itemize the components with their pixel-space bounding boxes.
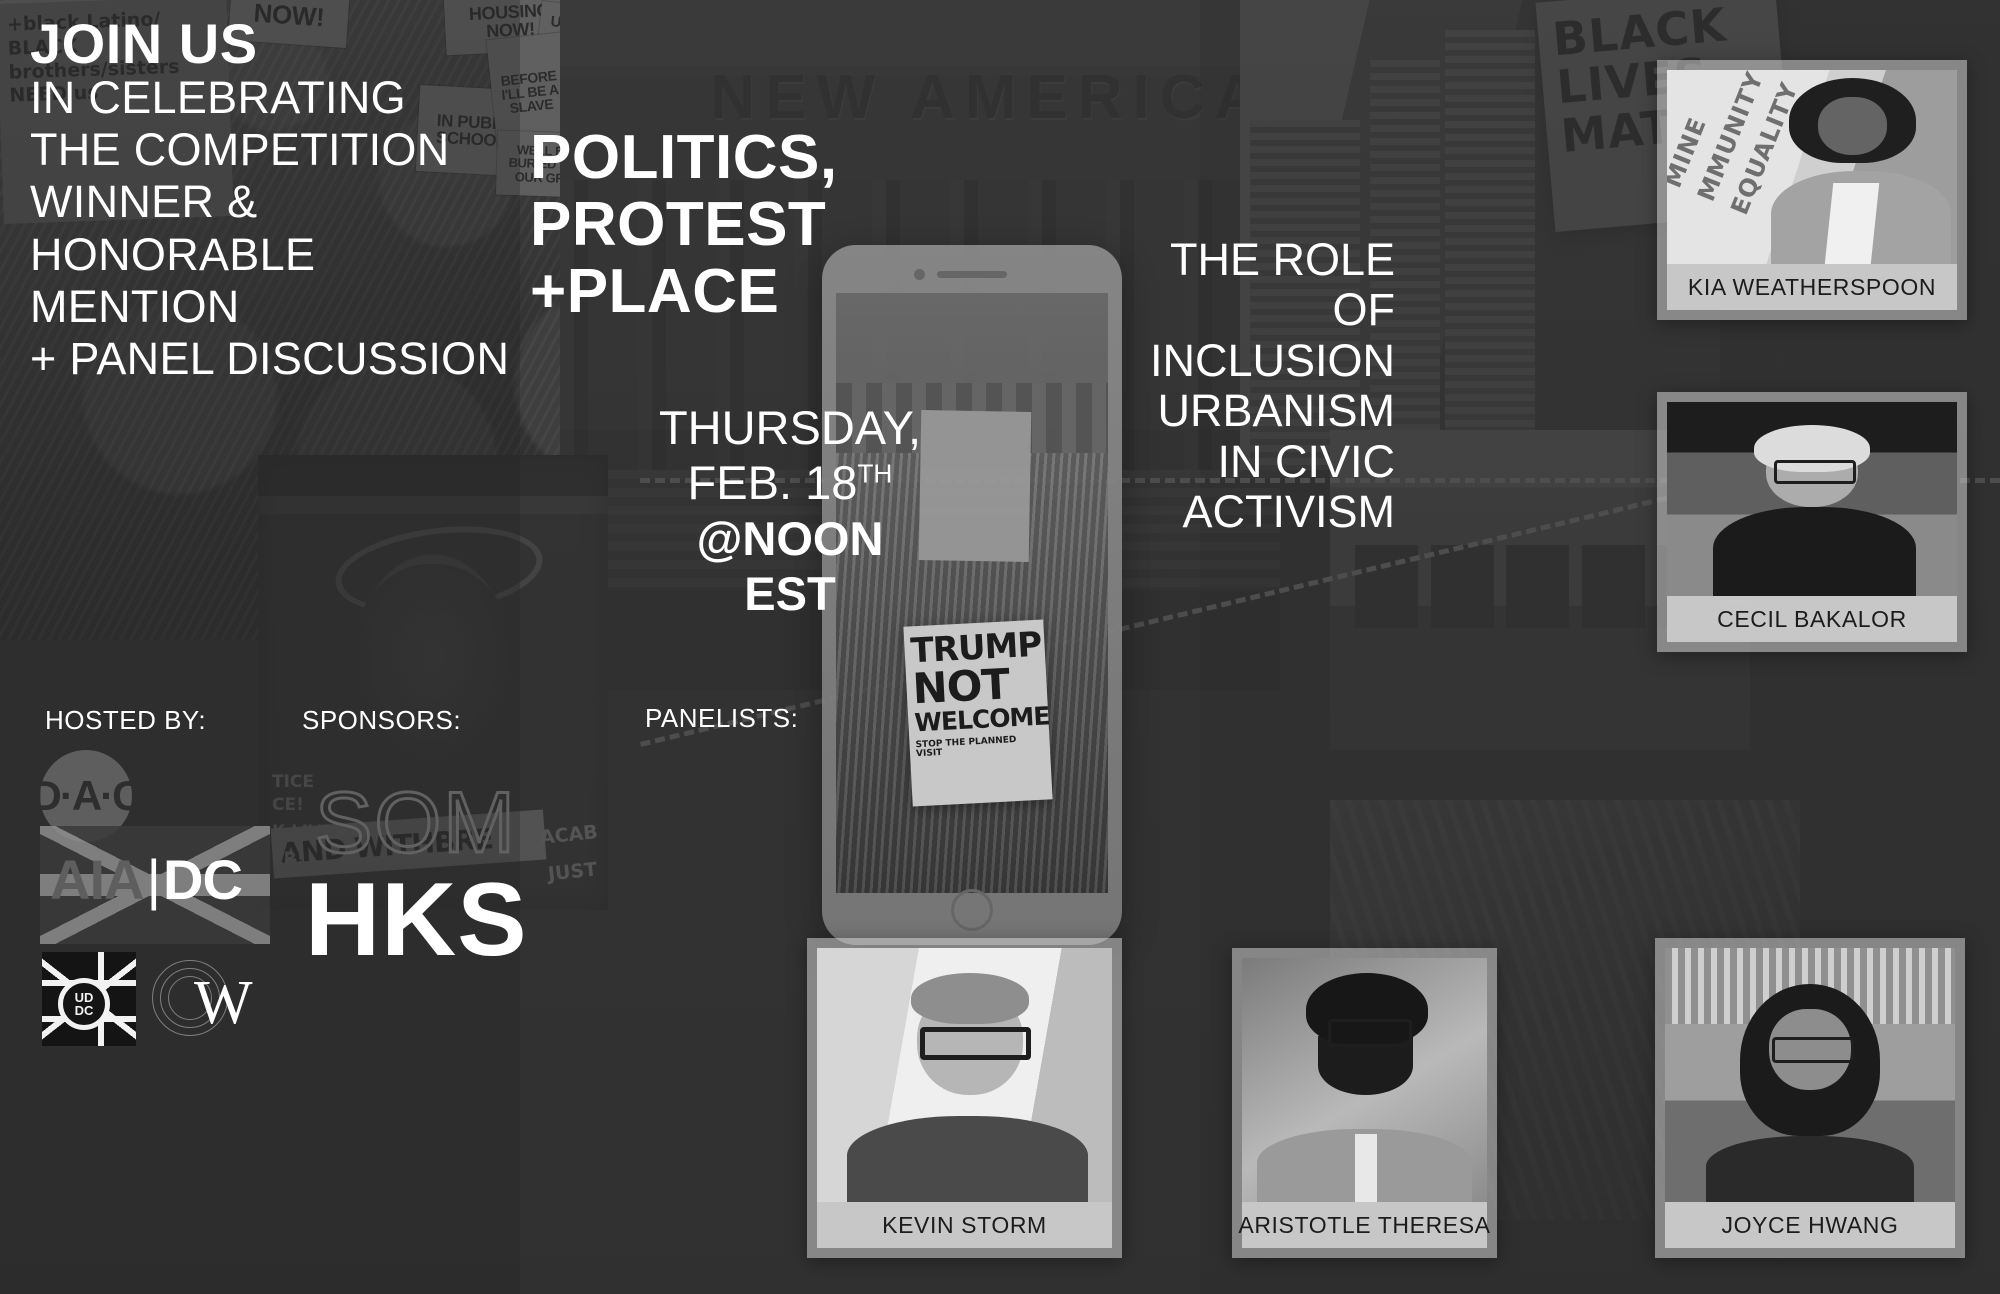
speaker-shirt bbox=[1355, 1134, 1377, 1202]
event-day: THURSDAY, bbox=[650, 400, 930, 455]
panelists-label: PANELISTS: bbox=[645, 703, 798, 734]
speaker-namebar: KEVIN STORM bbox=[817, 1202, 1112, 1248]
speaker-card-aristotle-theresa[interactable]: ARISTOTLE THERESA bbox=[1232, 948, 1497, 1258]
speaker-card-kia-weatherspoon[interactable]: MINEMMUNITYEQUALITY KIA WEATHERSPOON bbox=[1657, 60, 1967, 320]
speaker-glasses-icon bbox=[1328, 1019, 1412, 1047]
topic-line: OF INCLUSION bbox=[1085, 285, 1395, 386]
invite-line: THE COMPETITION bbox=[30, 124, 550, 176]
speaker-glasses-icon bbox=[1772, 1037, 1853, 1063]
speaker-torso bbox=[847, 1116, 1089, 1202]
speaker-namebar: JOYCE HWANG bbox=[1665, 1202, 1955, 1248]
event-time: @NOON EST bbox=[650, 511, 930, 622]
speaker-glasses-icon bbox=[920, 1027, 1030, 1060]
speaker-photo bbox=[1665, 948, 1955, 1202]
sign-line-4: STOP THE PLANNED VISIT bbox=[915, 735, 1046, 760]
hks-logo[interactable]: HKS bbox=[305, 868, 528, 972]
invite-line: IN CELEBRATING bbox=[30, 72, 550, 124]
speaker-namebar: KIA WEATHERSPOON bbox=[1667, 264, 1957, 310]
topic-line: THE ROLE bbox=[1085, 235, 1395, 285]
speaker-torso bbox=[1706, 1136, 1915, 1202]
speaker-name: CECIL BAKALOR bbox=[1717, 606, 1907, 633]
title-line-2: +PLACE bbox=[530, 259, 1090, 326]
speaker-shirt bbox=[1825, 183, 1880, 264]
topic-line: IN CIVIC bbox=[1085, 437, 1395, 487]
invite-line: MENTION bbox=[30, 281, 550, 333]
speaker-hair bbox=[911, 973, 1029, 1024]
speaker-namebar: ARISTOTLE THERESA bbox=[1242, 1202, 1487, 1248]
aia-dc-logo-text: AIA|DC bbox=[50, 852, 242, 908]
uddc-roundabout-icon: UD DC bbox=[58, 978, 110, 1030]
event-date-ordinal: TH bbox=[857, 459, 892, 489]
speaker-name: JOYCE HWANG bbox=[1722, 1212, 1899, 1239]
sponsors-label: SPONSORS: bbox=[302, 705, 461, 736]
speaker-name: ARISTOTLE THERESA bbox=[1238, 1212, 1490, 1239]
aia-dc-logo[interactable]: AIA|DC bbox=[40, 826, 270, 944]
uddc-logo[interactable]: UD DC bbox=[42, 952, 136, 1046]
speaker-photo bbox=[1667, 402, 1957, 596]
invite-headline: JOIN US bbox=[30, 16, 550, 72]
event-poster: SCHOOLS NOW! NOW! HOUSING NOW! UAW SAYS … bbox=[0, 0, 2000, 1294]
trump-not-welcome-sign: TRUMP NOT WELCOME STOP THE PLANNED VISIT bbox=[903, 619, 1052, 806]
uddc-logo-text: UD DC bbox=[75, 991, 94, 1017]
speaker-card-joyce-hwang[interactable]: JOYCE HWANG bbox=[1655, 938, 1965, 1258]
poster-title: POLITICS, PROTEST +PLACE bbox=[530, 125, 1090, 326]
speaker-photo: MINEMMUNITYEQUALITY bbox=[1667, 70, 1957, 264]
hosted-by-label: HOSTED BY: bbox=[45, 705, 206, 736]
speaker-name: KEVIN STORM bbox=[882, 1212, 1047, 1239]
topic-line: ACTIVISM bbox=[1085, 487, 1395, 537]
aia-text: AIA bbox=[50, 848, 143, 911]
sign-line-3: WELCOME bbox=[914, 704, 1045, 736]
title-line-1: POLITICS, PROTEST bbox=[530, 125, 1090, 259]
dac-logo-text: D·A·C bbox=[32, 772, 141, 820]
speaker-photo bbox=[1242, 958, 1487, 1202]
invite-line: + PANEL DISCUSSION bbox=[30, 333, 550, 385]
event-datetime: THURSDAY, FEB. 18TH @NOON EST bbox=[650, 400, 930, 622]
speaker-photo bbox=[817, 948, 1112, 1202]
dc-text: DC bbox=[163, 848, 242, 911]
w-compass-logo[interactable]: W bbox=[158, 954, 250, 1046]
speaker-glasses-icon bbox=[1774, 460, 1855, 483]
event-date-number: FEB. 18 bbox=[688, 456, 858, 509]
speaker-torso bbox=[1713, 507, 1916, 596]
topic-block: THE ROLE OF INCLUSION URBANISM IN CIVIC … bbox=[1085, 235, 1395, 537]
som-logo[interactable]: SOM bbox=[315, 780, 517, 866]
speaker-namebar: CECIL BAKALOR bbox=[1667, 596, 1957, 642]
invite-line: WINNER & bbox=[30, 176, 550, 228]
invite-block: JOIN US IN CELEBRATING THE COMPETITION W… bbox=[30, 16, 550, 385]
speaker-card-kevin-storm[interactable]: KEVIN STORM bbox=[807, 938, 1122, 1258]
phone-home-button bbox=[951, 889, 993, 931]
speaker-face bbox=[1818, 97, 1888, 155]
topic-line: URBANISM bbox=[1085, 386, 1395, 436]
logo-area: D·A·C AIA|DC UD DC W SOM HKS bbox=[40, 740, 560, 1040]
divider-bar: | bbox=[146, 848, 160, 911]
blank-protest-sign bbox=[919, 410, 1032, 562]
speaker-card-cecil-bakalor[interactable]: CECIL BAKALOR bbox=[1657, 392, 1967, 652]
w-logo-text: W bbox=[194, 972, 253, 1034]
speaker-name: KIA WEATHERSPOON bbox=[1688, 274, 1936, 301]
event-date: FEB. 18TH bbox=[650, 455, 930, 510]
invite-line: HONORABLE bbox=[30, 229, 550, 281]
